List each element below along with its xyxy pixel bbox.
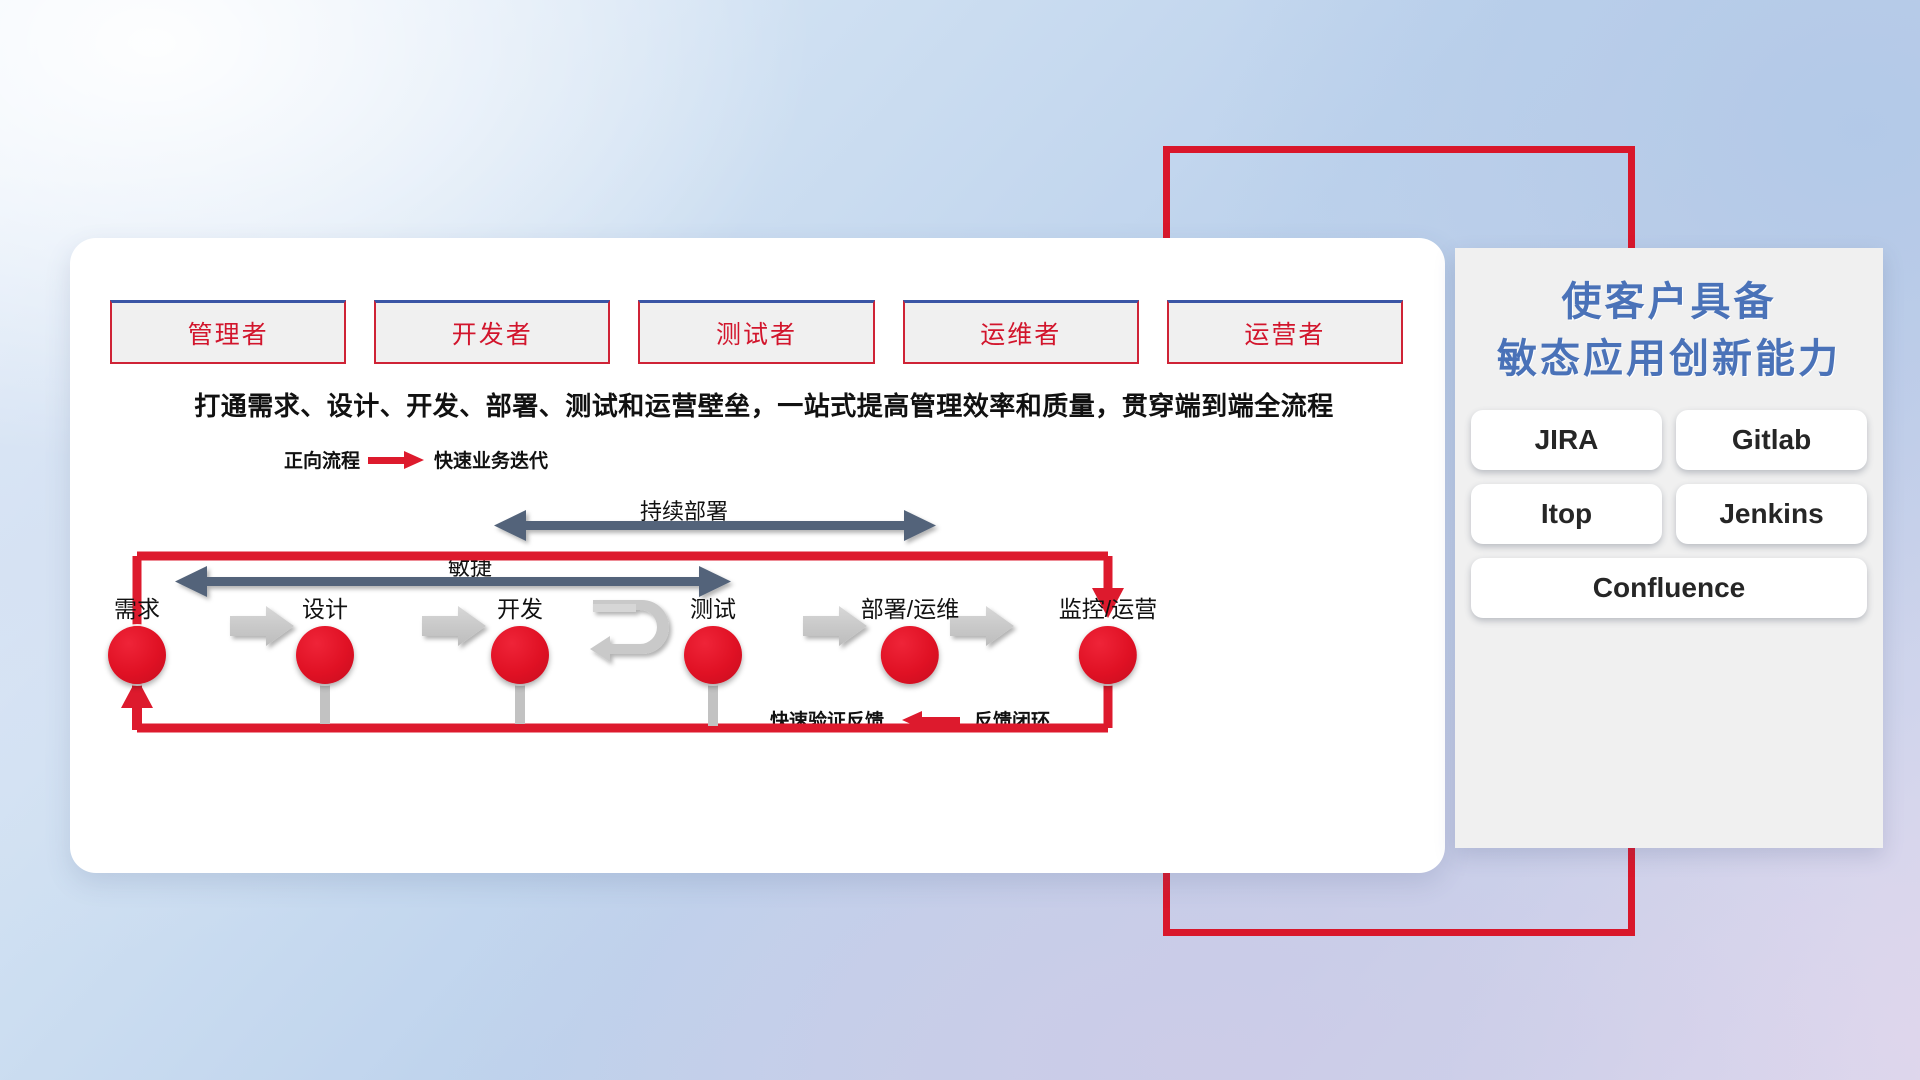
devops-overview-card: 管理者 开发者 测试者 运维者 运营者 打通需求、设计、开发、部署、测试和运营壁… <box>70 238 1445 873</box>
tool-label: JIRA <box>1535 424 1599 456</box>
stage-label: 监控/运营 <box>1059 590 1157 624</box>
tool-label: Jenkins <box>1719 498 1823 530</box>
stage-dot-icon <box>296 626 354 684</box>
tool-button-gitlab[interactable]: Gitlab <box>1676 410 1867 470</box>
tool-label: Confluence <box>1593 572 1745 604</box>
stage-node-development[interactable]: 开发 <box>491 590 549 684</box>
stage-dot-icon <box>881 626 939 684</box>
slide-canvas: 管理者 开发者 测试者 运维者 运营者 打通需求、设计、开发、部署、测试和运营壁… <box>0 0 1920 1080</box>
stage-node-design[interactable]: 设计 <box>296 590 354 684</box>
stage-dot-icon <box>1079 626 1137 684</box>
stage-dot-icon <box>108 626 166 684</box>
stage-node-row: 需求 设计 开发 测试 部署/运维 监控/运营 <box>70 238 1445 873</box>
stage-dot-icon <box>491 626 549 684</box>
stage-label: 设计 <box>296 590 354 624</box>
tool-button-jira[interactable]: JIRA <box>1471 410 1662 470</box>
panel-title-line2: 敏态应用创新能力 <box>1455 331 1883 388</box>
tool-button-jenkins[interactable]: Jenkins <box>1676 484 1867 544</box>
stage-node-requirements[interactable]: 需求 <box>108 590 166 684</box>
tool-label: Itop <box>1541 498 1592 530</box>
stage-node-deploy-ops[interactable]: 部署/运维 <box>861 590 959 684</box>
stage-node-monitor-operations[interactable]: 监控/运营 <box>1059 590 1157 684</box>
panel-title: 使客户具备 敏态应用创新能力 <box>1455 274 1883 388</box>
tool-button-itop[interactable]: Itop <box>1471 484 1662 544</box>
capability-panel: 使客户具备 敏态应用创新能力 JIRA Gitlab Itop Jenkins … <box>1455 248 1883 848</box>
stage-label: 需求 <box>108 590 166 624</box>
stage-label: 测试 <box>684 590 742 624</box>
stage-label: 开发 <box>491 590 549 624</box>
panel-title-line1: 使客户具备 <box>1455 274 1883 331</box>
tool-button-confluence[interactable]: Confluence <box>1471 558 1867 618</box>
stage-label: 部署/运维 <box>861 590 959 624</box>
stage-node-testing[interactable]: 测试 <box>684 590 742 684</box>
tool-label: Gitlab <box>1732 424 1811 456</box>
stage-dot-icon <box>684 626 742 684</box>
tool-button-grid: JIRA Gitlab Itop Jenkins Confluence <box>1471 410 1867 618</box>
